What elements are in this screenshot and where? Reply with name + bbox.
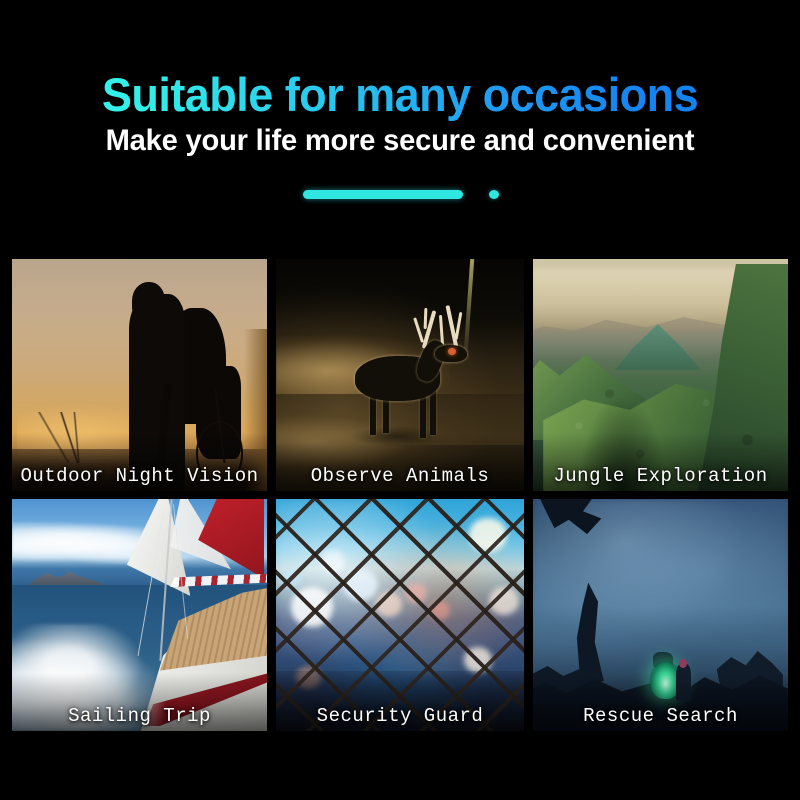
gallery-tile-observe-animals[interactable]: Observe Animals [276, 259, 524, 491]
divider-bar [303, 190, 463, 199]
gallery-tile-jungle-exploration[interactable]: Jungle Exploration [533, 259, 788, 491]
gallery-tile-outdoor-night-vision[interactable]: Outdoor Night Vision [12, 259, 267, 491]
gallery-tile-security-guard[interactable]: Security Guard [276, 499, 524, 731]
tile-caption: Sailing Trip [12, 705, 267, 727]
gallery-tile-rescue-search[interactable]: Rescue Search [533, 499, 788, 731]
deer-leg-front [370, 394, 376, 436]
hiker-head [132, 282, 165, 321]
deer-leg-rear-2 [430, 391, 436, 435]
page-subtitle: Make your life more secure and convenien… [12, 122, 788, 160]
tile-caption: Outdoor Night Vision [12, 465, 267, 487]
gallery-tile-sailing-trip[interactable]: Sailing Trip [12, 499, 267, 731]
tile-caption: Security Guard [276, 705, 524, 727]
page-title: Suitable for many occasions [16, 67, 784, 123]
tile-caption: Observe Animals [276, 465, 524, 487]
night-sky-band [276, 259, 524, 319]
storm-clouds [533, 499, 788, 675]
scenario-gallery: Outdoor Night Vision [12, 259, 788, 731]
tile-caption: Rescue Search [533, 705, 788, 727]
promo-page: Suitable for many occasions Make your li… [0, 0, 800, 800]
header-section: Suitable for many occasions Make your li… [0, 0, 800, 250]
tile-caption: Jungle Exploration [533, 465, 788, 487]
antler-left-tine-2 [423, 308, 427, 329]
divider-dot [489, 190, 499, 199]
divider [0, 186, 800, 206]
